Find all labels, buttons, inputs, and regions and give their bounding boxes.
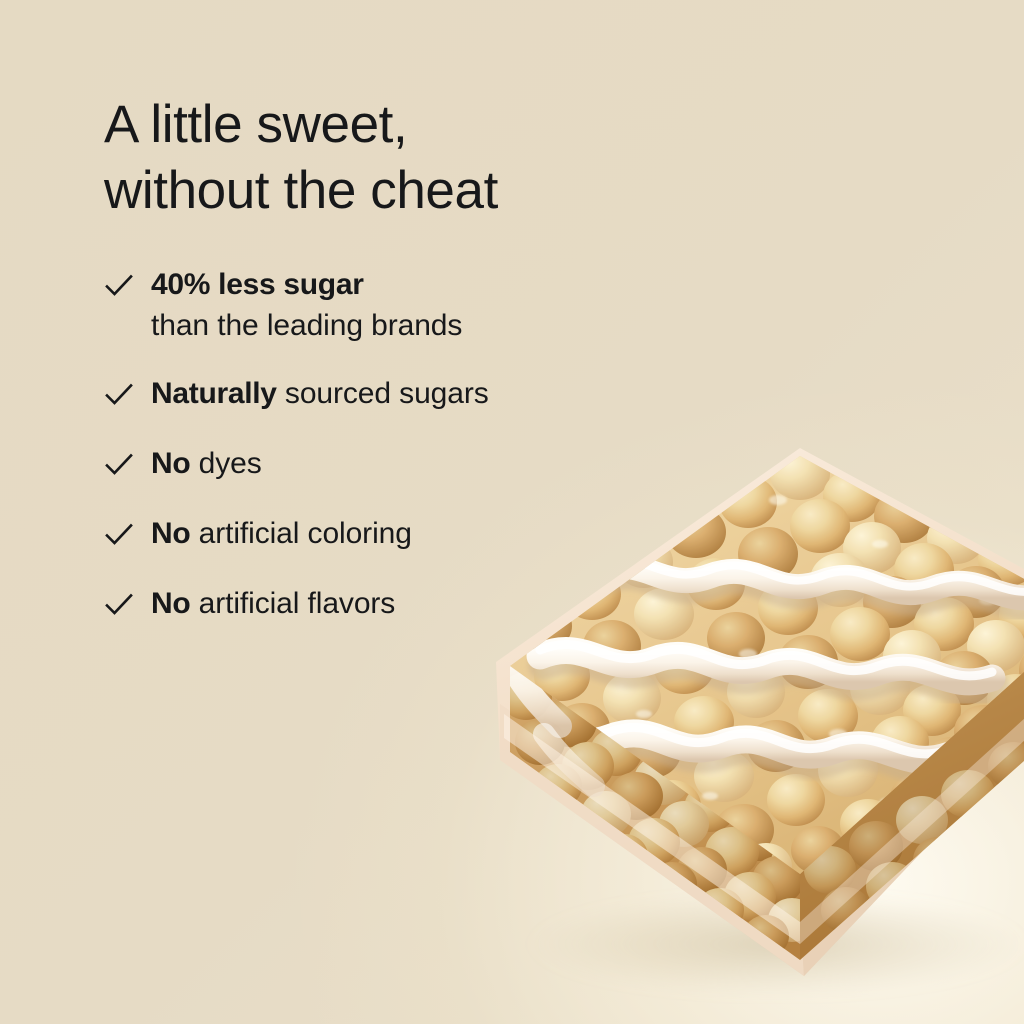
list-item: Naturally sourced sugars	[104, 373, 664, 415]
benefit-text: Naturally sourced sugars	[151, 373, 664, 415]
list-item: No dyes	[104, 443, 664, 485]
page-title: A little sweet, without the cheat	[104, 92, 664, 224]
benefit-rest: artificial coloring	[190, 517, 411, 550]
check-icon	[104, 271, 134, 301]
benefit-subtext: than the leading brands	[151, 306, 664, 346]
check-icon	[104, 450, 134, 480]
benefit-bold: Naturally	[151, 377, 277, 410]
benefit-text: 40% less sugar	[151, 264, 664, 306]
list-item: No artificial flavors	[104, 583, 664, 625]
list-item: 40% less sugar than the leading brands	[104, 264, 664, 346]
benefit-rest: sourced sugars	[277, 377, 489, 410]
benefit-list: 40% less sugar than the leading brands N…	[104, 264, 664, 653]
check-icon	[104, 590, 134, 620]
benefit-bold: No	[151, 587, 190, 620]
benefit-bold: No	[151, 517, 190, 550]
list-item: No artificial coloring	[104, 513, 664, 555]
check-icon	[104, 380, 134, 410]
check-icon	[104, 520, 134, 550]
benefit-text: No artificial flavors	[151, 583, 664, 625]
benefit-bold: No	[151, 447, 190, 480]
promo-image: A little sweet, without the cheat 40% le…	[0, 0, 1024, 1024]
benefit-text: No dyes	[151, 443, 664, 485]
copy-block: A little sweet, without the cheat 40% le…	[104, 92, 664, 224]
benefit-rest: dyes	[190, 447, 261, 480]
benefit-bold: 40% less sugar	[151, 268, 364, 301]
benefit-text: No artificial coloring	[151, 513, 664, 555]
benefit-rest: artificial flavors	[190, 587, 395, 620]
